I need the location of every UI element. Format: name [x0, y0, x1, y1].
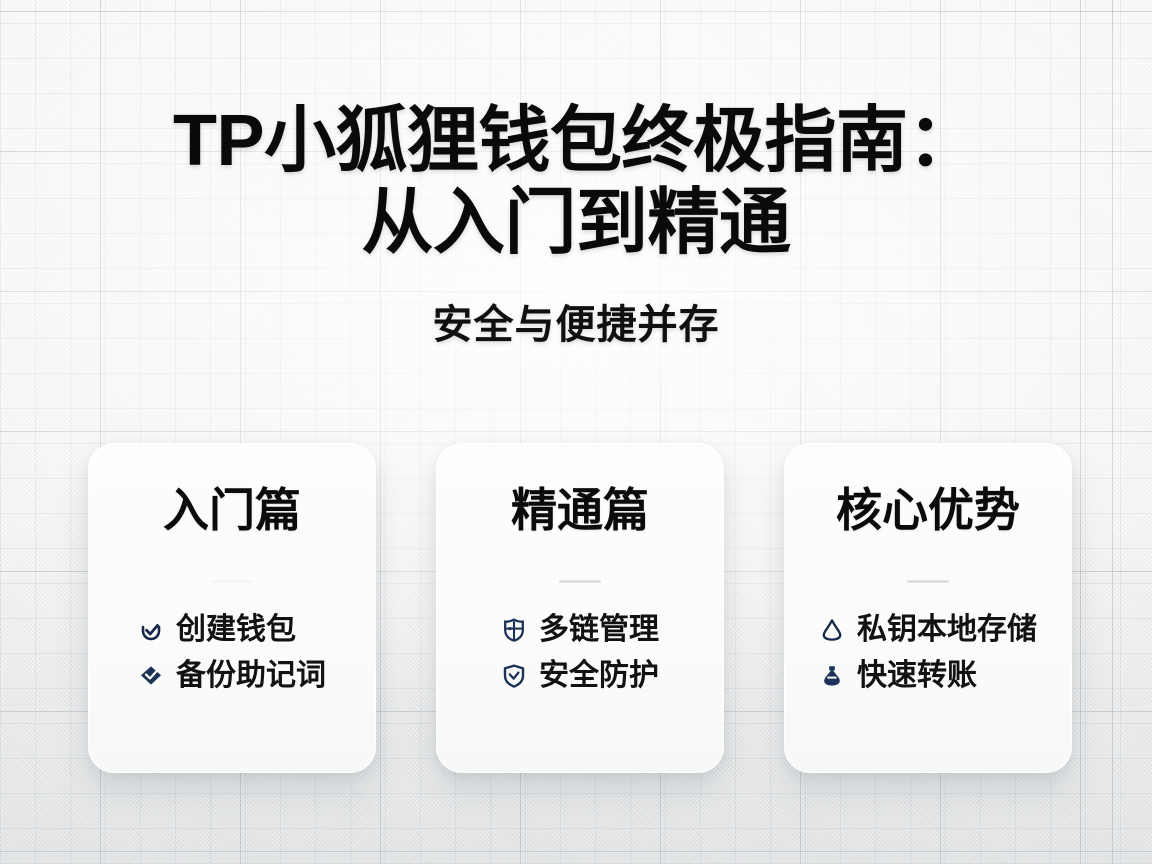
card-title: 核心优势: [836, 485, 1020, 536]
list-item[interactable]: 快速转账: [819, 659, 1037, 694]
list-item-label: 创建钱包: [176, 613, 296, 648]
check-icon: [138, 617, 164, 643]
poster-canvas: TP小狐狸钱包终极指南： 从入门到精通 安全与便捷并存 入门篇 创建钱包: [0, 0, 1152, 864]
list-item[interactable]: 备份助记词: [138, 659, 326, 694]
feature-card-beginner[interactable]: 入门篇 创建钱包: [88, 443, 376, 773]
feature-card-advantages[interactable]: 核心优势 私钥本地存储: [784, 443, 1072, 773]
card-divider: [559, 580, 601, 583]
network-shield-icon: [501, 617, 527, 643]
lock-outline-icon: [819, 617, 845, 643]
card-feature-list: 多链管理 安全防护: [501, 613, 659, 694]
list-item-label: 私钥本地存储: [857, 613, 1037, 648]
list-item[interactable]: 私钥本地存储: [819, 613, 1037, 648]
lock-filled-icon: [819, 663, 845, 689]
list-item[interactable]: 创建钱包: [138, 613, 326, 648]
headline-block: TP小狐狸钱包终极指南： 从入门到精通 安全与便捷并存: [0, 103, 1152, 350]
list-item[interactable]: 多链管理: [501, 613, 659, 648]
feature-card-row: 入门篇 创建钱包: [88, 443, 1072, 773]
list-item-label: 多链管理: [539, 613, 659, 648]
page-subtitle: 安全与便捷并存: [0, 292, 1152, 350]
page-title-line-1: TP小狐狸钱包终极指南：: [0, 103, 1152, 179]
diamond-check-icon: [138, 663, 164, 689]
card-feature-list: 私钥本地存储 快速转账: [819, 613, 1037, 694]
feature-card-advanced[interactable]: 精通篇 多链管理: [436, 443, 724, 773]
card-divider: [211, 580, 253, 583]
card-title: 精通篇: [511, 485, 649, 536]
list-item-label: 快速转账: [857, 659, 977, 694]
page-title-line-2: 从入门到精通: [0, 185, 1152, 261]
card-title: 入门篇: [163, 485, 301, 536]
list-item[interactable]: 安全防护: [501, 659, 659, 694]
card-feature-list: 创建钱包 备份助记词: [138, 613, 326, 694]
shield-check-icon: [501, 663, 527, 689]
list-item-label: 备份助记词: [176, 659, 326, 694]
list-item-label: 安全防护: [539, 659, 659, 694]
card-divider: [907, 580, 949, 583]
